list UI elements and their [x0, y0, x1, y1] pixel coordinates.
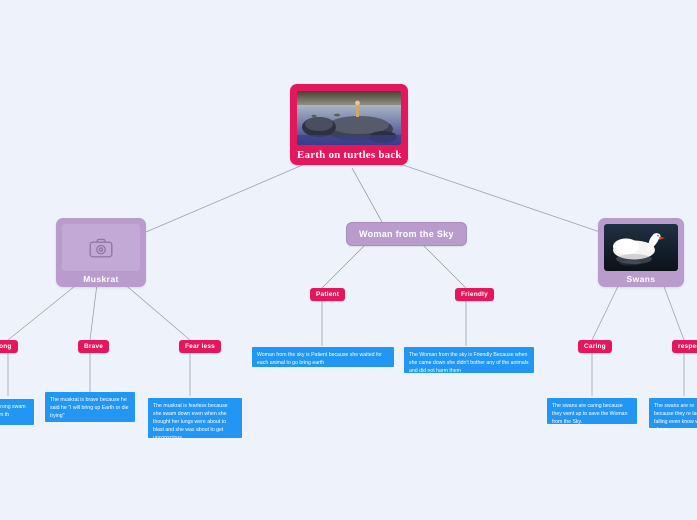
branch-node-muskrat[interactable]: Muskrat	[56, 218, 146, 287]
note-respectful[interactable]: The swans are re because they re lady fa…	[649, 398, 697, 428]
trait-chip-caring[interactable]: Caring	[578, 340, 612, 353]
note-brave-text: The muskrat is brave because he said he …	[50, 397, 129, 419]
note-friendly-text: The Woman from the sky is Friendly Becau…	[409, 352, 529, 374]
note-caring[interactable]: The swans are caring because they went u…	[547, 398, 637, 424]
note-friendly[interactable]: The Woman from the sky is Friendly Becau…	[404, 347, 534, 373]
root-node-label: Earth on turtles back	[297, 145, 401, 161]
trait-chip-patient-label: Patient	[316, 291, 339, 298]
trait-chip-friendly[interactable]: Friendly	[455, 288, 494, 301]
trait-chip-brave-label: Brave	[84, 343, 103, 350]
turtle-island-illustration	[297, 91, 401, 145]
note-brave[interactable]: The muskrat is brave because he said he …	[45, 392, 135, 422]
trait-chip-strong[interactable]: trong	[0, 340, 18, 353]
trait-chip-strong-label: trong	[0, 343, 12, 350]
trait-chip-fearless-label: Fear less	[185, 343, 215, 350]
note-fearless[interactable]: The muskrat is fearless because she swam…	[148, 398, 242, 438]
trait-chip-brave[interactable]: Brave	[78, 340, 109, 353]
note-fearless-text: The muskrat is fearless because she swam…	[153, 403, 228, 441]
note-patient[interactable]: Woman from the sky is Patient because sh…	[252, 347, 394, 367]
note-caring-text: The swans are caring because they went u…	[552, 403, 627, 425]
trait-chip-friendly-label: Friendly	[461, 291, 488, 298]
image-placeholder-icon	[62, 224, 140, 271]
trait-chip-respectful[interactable]: respect	[672, 340, 697, 353]
branch-node-swans[interactable]: Swans	[598, 218, 684, 287]
note-respectful-text: The swans are re because they re lady fa…	[654, 403, 697, 433]
trait-chip-respectful-label: respect	[678, 343, 697, 350]
trait-chip-caring-label: Caring	[584, 343, 606, 350]
root-node-earth-on-turtles-back[interactable]: Earth on turtles back	[290, 84, 408, 165]
branch-node-swans-label: Swans	[604, 271, 678, 284]
branch-node-muskrat-label: Muskrat	[62, 271, 140, 284]
trait-chip-fearless[interactable]: Fear less	[179, 340, 221, 353]
mindmap-canvas[interactable]: Earth on turtles back Muskrat Woman from…	[0, 0, 697, 520]
note-strong-text: is strong swam down th	[0, 404, 26, 418]
trait-chip-patient[interactable]: Patient	[310, 288, 345, 301]
branch-node-woman-from-the-sky[interactable]: Woman from the Sky	[346, 222, 467, 246]
swan-on-water-photo	[604, 224, 678, 271]
note-patient-text: Woman from the sky is Patient because sh…	[257, 352, 382, 366]
note-strong[interactable]: is strong swam down th	[0, 399, 34, 425]
branch-node-woman-from-the-sky-label: Woman from the Sky	[359, 229, 454, 239]
